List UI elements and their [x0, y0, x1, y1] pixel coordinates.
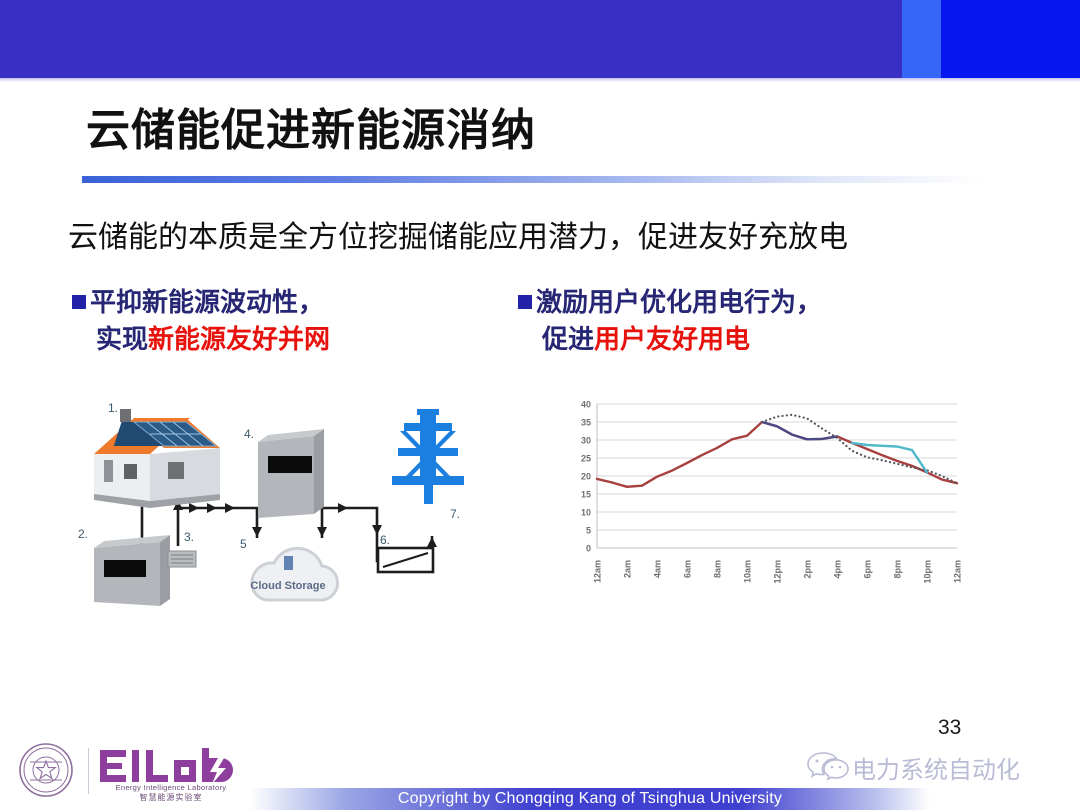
wechat-account-name: 电力系统自动化	[852, 750, 1020, 785]
lead-sentence: 云储能的本质是全方位挖掘储能应用潜力，促进友好充放电	[68, 212, 1028, 256]
chart-x-tick: 8am	[713, 560, 723, 578]
header-shadow	[0, 78, 1080, 82]
chart-x-tick: 12am	[593, 560, 603, 583]
chart-y-tick: 25	[581, 453, 591, 463]
load-profile-chart: 051015202530354012am2am4am6am8am10am12pm…	[565, 396, 965, 608]
university-seal-icon	[18, 742, 74, 798]
chart-x-tick: 2am	[623, 560, 633, 578]
chart-y-tick: 40	[581, 399, 591, 409]
chart-x-tick: 4am	[653, 560, 663, 578]
chart-x-tick: 10pm	[923, 560, 933, 584]
chart-svg: 051015202530354012am2am4am6am8am10am12pm…	[565, 396, 965, 608]
footer-divider	[88, 748, 89, 794]
chart-series-baseline-load	[597, 422, 957, 487]
header-band-light	[902, 0, 941, 78]
page-title: 云储能促进新能源消纳	[86, 94, 536, 158]
chart-y-tick: 15	[581, 489, 591, 499]
chart-x-tick: 4pm	[833, 560, 843, 579]
chart-y-tick: 35	[581, 417, 591, 427]
wechat-bubble-icon	[806, 748, 852, 782]
bullet-square-icon	[72, 295, 86, 309]
header-band-main	[0, 0, 902, 78]
chart-y-tick: 30	[581, 435, 591, 445]
bullet-right: 激励用户优化用电行为， 促进用户友好用电	[518, 285, 988, 359]
chart-y-tick: 20	[581, 471, 591, 481]
schematic-label-6: 6.	[380, 533, 390, 547]
bullet-left-line2-highlight: 新能源友好并网	[148, 325, 330, 355]
header-band-deep	[941, 0, 1080, 78]
bullet-right-line2: 促进用户友好用电	[542, 322, 988, 359]
bullet-right-line2-highlight: 用户友好用电	[594, 325, 750, 355]
chart-y-tick: 0	[586, 543, 591, 553]
chart-x-tick: 6am	[683, 560, 693, 578]
header-band	[0, 0, 1080, 78]
bullet-left-line1: 平抑新能源波动性，	[90, 288, 324, 318]
cloud-storage-label: Cloud Storage	[250, 580, 325, 592]
chart-x-tick: 12am	[953, 560, 963, 583]
chart-x-tick: 2pm	[803, 560, 813, 579]
schematic-label-5: 5	[240, 537, 247, 551]
bullet-left-line2-prefix: 实现	[96, 325, 148, 355]
transformer-6-icon	[378, 548, 433, 572]
schematic-label-7: 7.	[450, 507, 460, 521]
chart-y-tick: 10	[581, 507, 591, 517]
title-underline-rule	[82, 176, 982, 183]
chart-x-tick: 12pm	[773, 560, 783, 584]
chart-x-tick: 10am	[743, 560, 753, 583]
chart-x-tick: 8pm	[893, 560, 903, 579]
schematic-label-4: 4.	[244, 427, 254, 441]
bullet-right-line2-prefix: 促进	[542, 325, 594, 355]
schematic-label-2: 2.	[78, 527, 88, 541]
page-number: 33	[938, 716, 961, 740]
storage-cabinet-4-icon	[258, 429, 324, 518]
chart-y-tick: 5	[586, 525, 591, 535]
schematic-svg: Cloud Storage 1. 2.	[72, 396, 522, 611]
meter-3-icon	[168, 551, 196, 567]
power-tower-icon	[392, 409, 464, 504]
chart-x-tick: 6pm	[863, 560, 873, 579]
bullet-right-line1: 激励用户优化用电行为，	[536, 288, 822, 318]
schematic-label-1: 1.	[108, 401, 118, 415]
bullet-left: 平抑新能源波动性， 实现新能源友好并网	[72, 285, 502, 359]
bullet-left-line2: 实现新能源友好并网	[96, 322, 502, 359]
copyright-text: Copyright by Chongqing Kang of Tsinghua …	[250, 789, 930, 811]
schematic-label-3: 3.	[184, 530, 194, 544]
bullet-square-icon	[518, 295, 532, 309]
energy-system-schematic: Cloud Storage 1. 2.	[72, 396, 522, 611]
cloud-storage-icon: Cloud Storage	[250, 548, 337, 600]
inverter-cabinet-2-icon	[94, 535, 170, 606]
eilab-subtitle-en: Energy Intelligence Laboratory	[98, 783, 244, 792]
eilab-subtitle-cn: 智慧能源实验室	[98, 792, 244, 803]
house-with-solar-icon	[94, 409, 220, 508]
slide-root: 云储能促进新能源消纳 云储能的本质是全方位挖掘储能应用潜力，促进友好充放电 平抑…	[0, 0, 1080, 810]
